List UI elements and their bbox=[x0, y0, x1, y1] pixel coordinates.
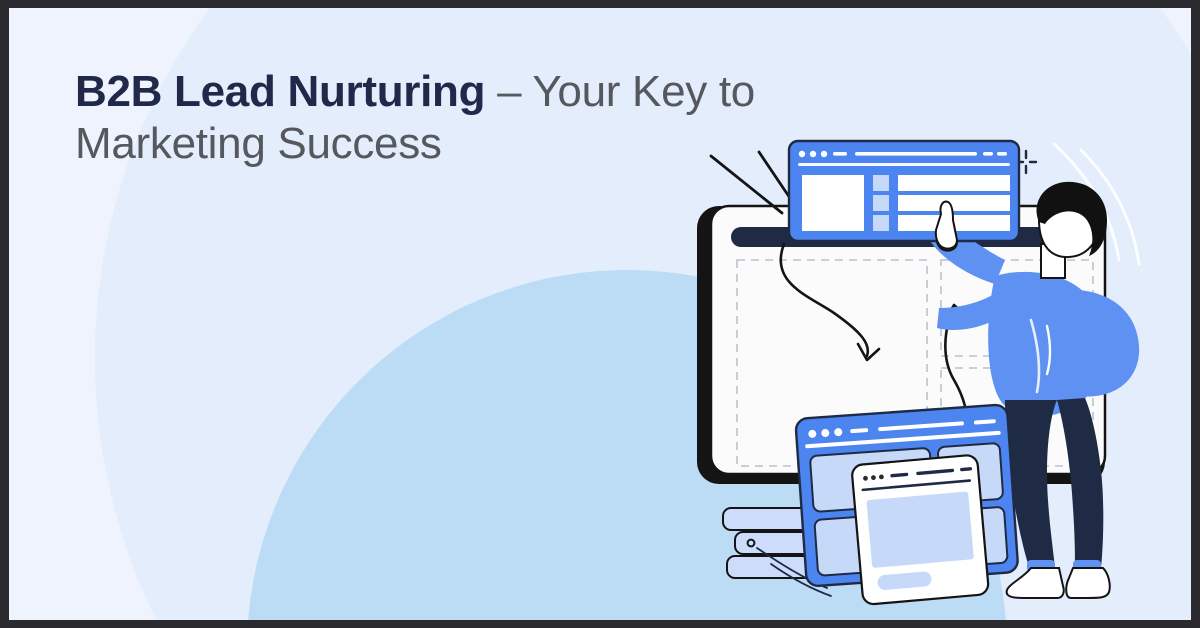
window-tab bbox=[833, 152, 847, 156]
person-shoe-left bbox=[1007, 568, 1064, 598]
window-divider bbox=[798, 163, 1010, 166]
hero-illustration bbox=[9, 8, 1191, 620]
window-dot-1 bbox=[799, 151, 805, 157]
floating-card-thumb-2 bbox=[873, 195, 889, 211]
window-control-1 bbox=[983, 152, 993, 156]
speed-lines bbox=[711, 152, 794, 213]
person-shoe-right bbox=[1066, 568, 1110, 598]
floating-card[interactable] bbox=[789, 141, 1019, 241]
floating-card-bar-2 bbox=[898, 195, 1010, 211]
floating-card-bar-1 bbox=[898, 175, 1010, 191]
floating-card-image-block bbox=[802, 175, 864, 231]
floating-card-thumb-1 bbox=[873, 175, 889, 191]
banner-frame: B2B Lead Nurturing – Your Key to Marketi… bbox=[0, 0, 1200, 628]
tablet-card[interactable] bbox=[851, 455, 989, 605]
window-control-2 bbox=[997, 152, 1007, 156]
window-dot-3 bbox=[821, 151, 827, 157]
window-urlbar bbox=[855, 152, 977, 156]
window-dot-2 bbox=[810, 151, 816, 157]
tablet-content-block bbox=[866, 491, 974, 568]
banner-canvas: B2B Lead Nurturing – Your Key to Marketi… bbox=[9, 8, 1191, 620]
floating-card-thumb-3 bbox=[873, 215, 889, 231]
